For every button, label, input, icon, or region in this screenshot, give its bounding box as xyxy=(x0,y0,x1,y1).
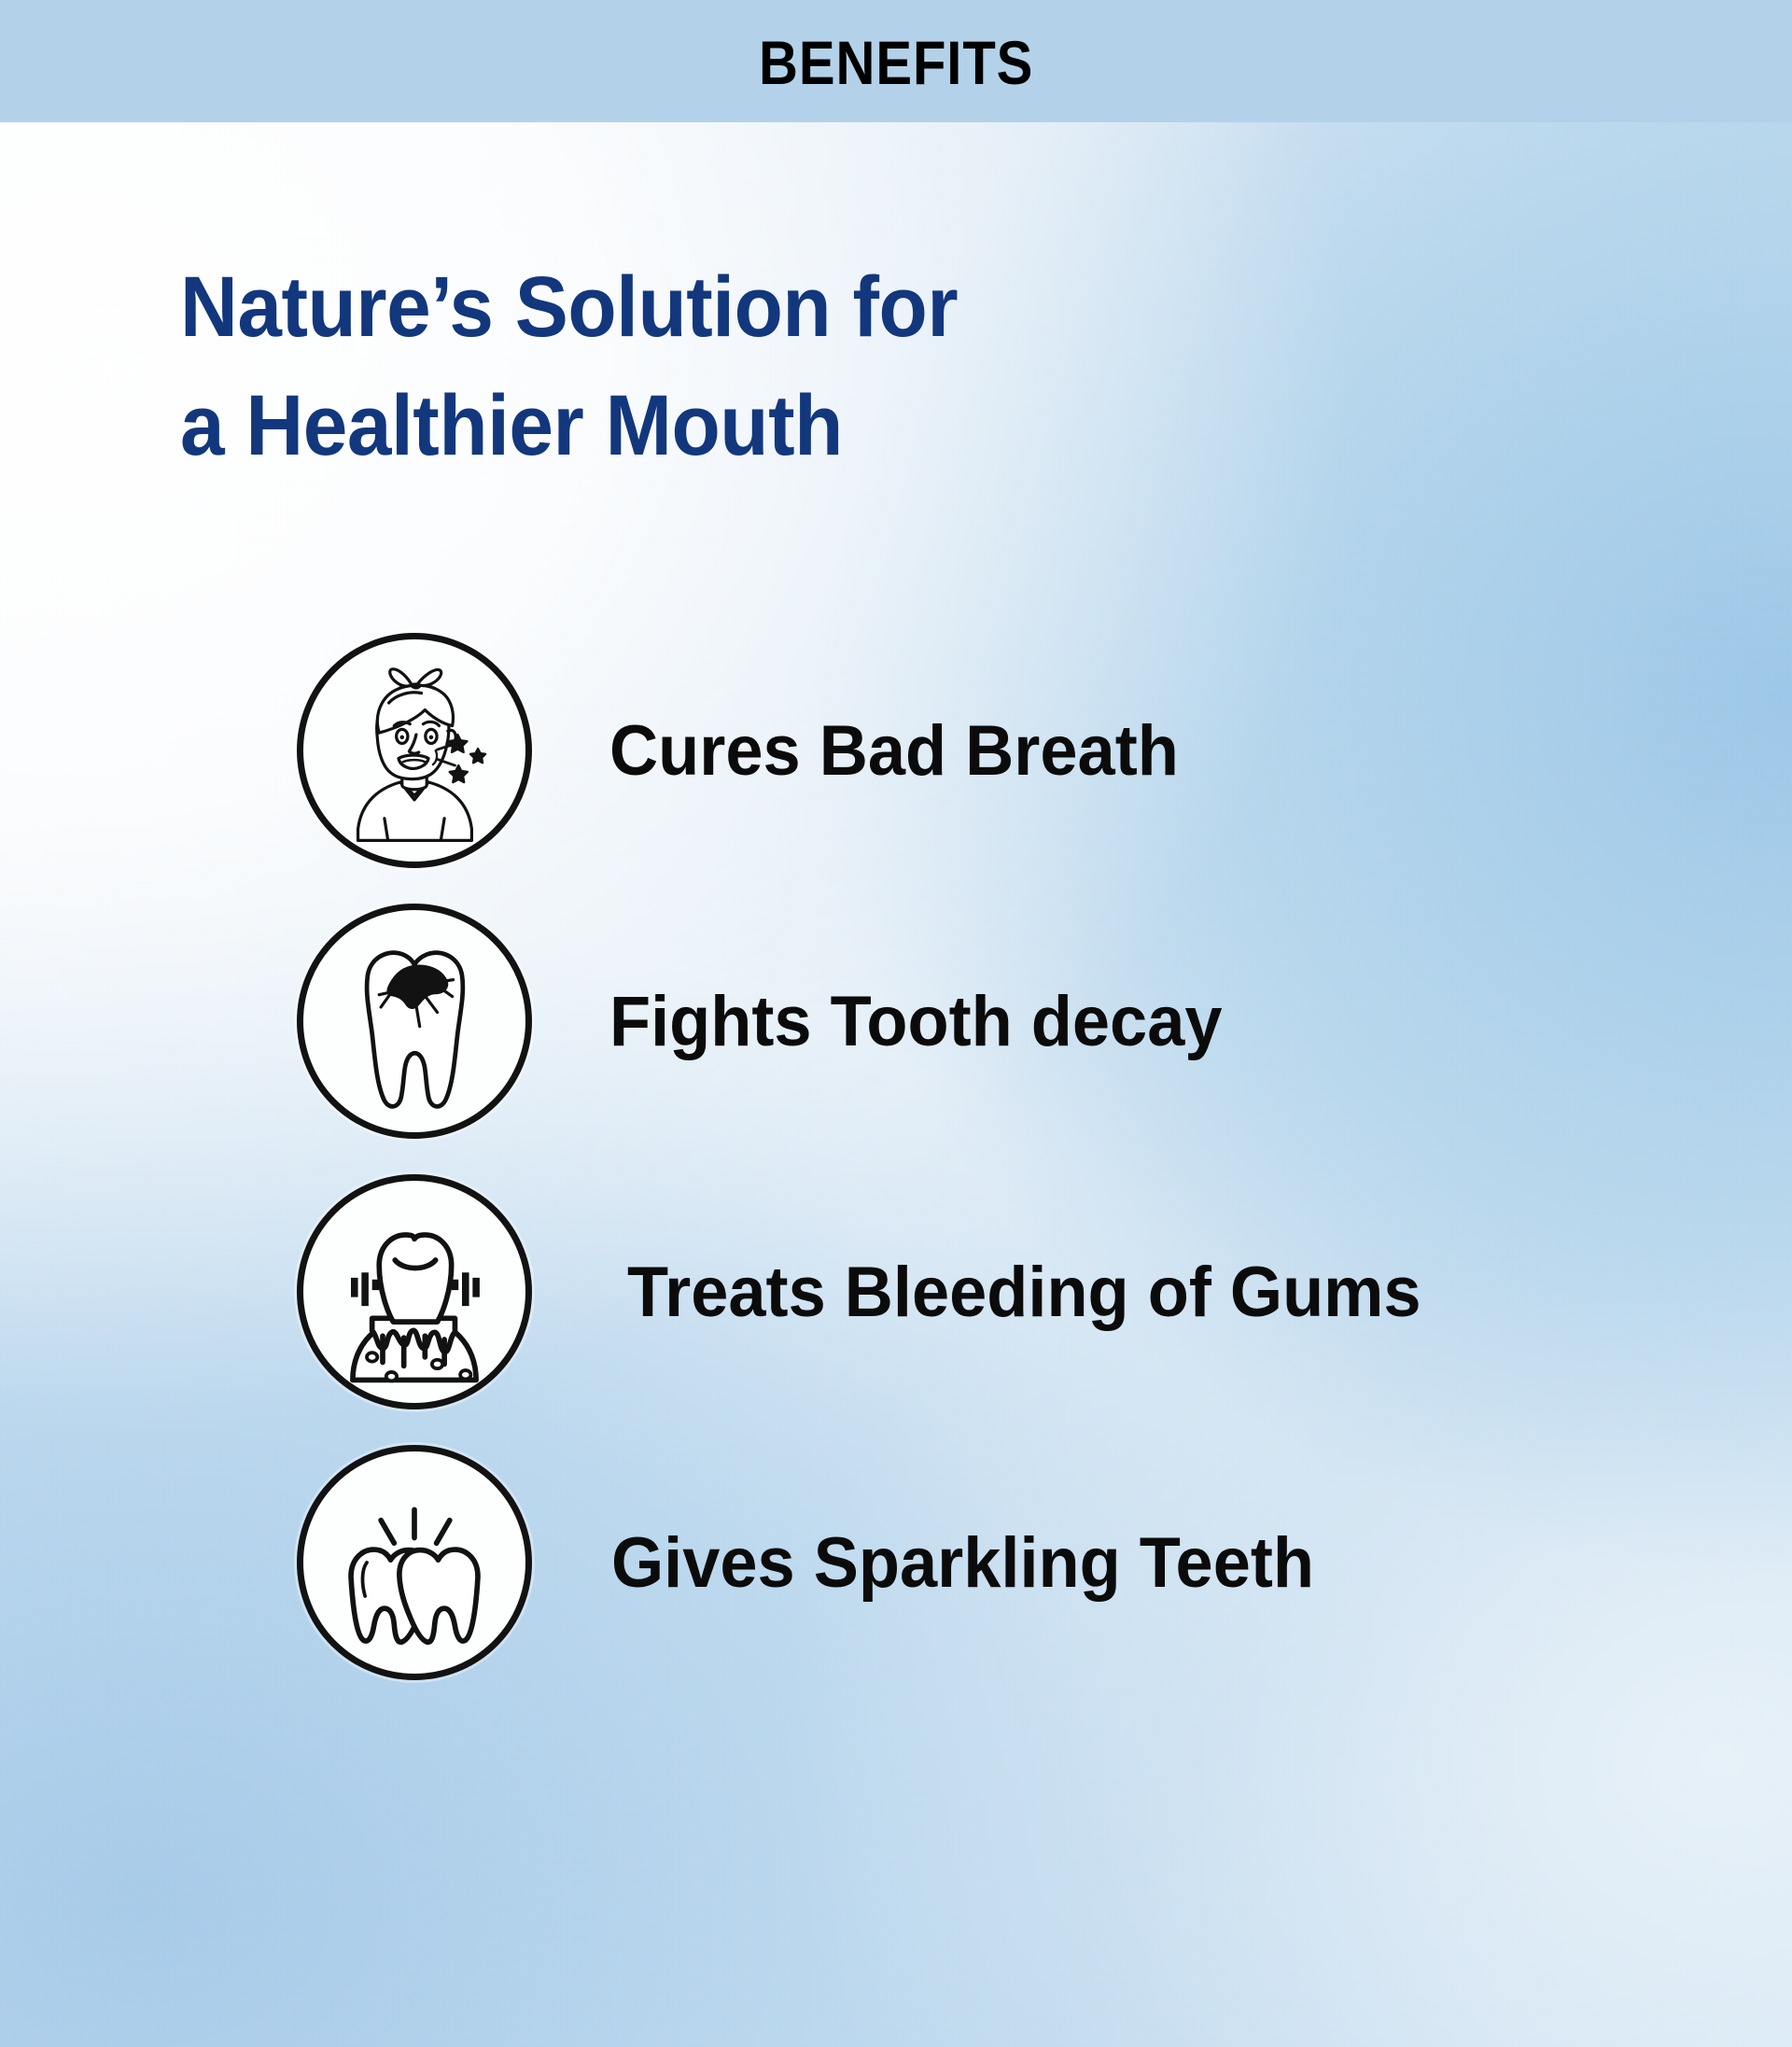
benefit-icon-wrapper xyxy=(297,633,532,868)
benefit-label: Treats Bleeding of Gums xyxy=(627,1257,1463,1328)
bleeding-gums-tooth-icon xyxy=(297,1174,532,1409)
benefit-item-fights-tooth-decay: Fights Tooth decay xyxy=(0,887,1792,1157)
bad-breath-person-icon xyxy=(297,633,532,868)
benefit-item-treats-bleeding-of-gums: Treats Bleeding of Gums xyxy=(0,1157,1792,1428)
benefits-list: Cures Bad Breath xyxy=(0,616,1792,1699)
benefit-icon-wrapper xyxy=(297,1445,532,1680)
page-title: Nature’s Solution for a Healthier Mouth xyxy=(180,248,1347,485)
page-title-line-2: a Healthier Mouth xyxy=(180,367,1266,485)
benefit-label: Gives Sparkling Teeth xyxy=(611,1528,1351,1599)
benefits-infographic: BENEFITS Nature’s Solution for a Healthi… xyxy=(0,0,1792,2047)
benefit-icon-wrapper xyxy=(297,1174,532,1409)
benefit-item-cures-bad-breath: Cures Bad Breath xyxy=(0,616,1792,887)
benefit-icon-wrapper xyxy=(297,904,532,1139)
benefit-label: Fights Tooth decay xyxy=(609,987,1254,1058)
decayed-tooth-icon xyxy=(297,904,532,1139)
sparkling-teeth-icon xyxy=(297,1445,532,1680)
benefit-item-gives-sparkling-teeth: Gives Sparkling Teeth xyxy=(0,1428,1792,1699)
page-title-line-1: Nature’s Solution for xyxy=(180,248,1266,367)
benefit-label: Cures Bad Breath xyxy=(609,716,1209,787)
